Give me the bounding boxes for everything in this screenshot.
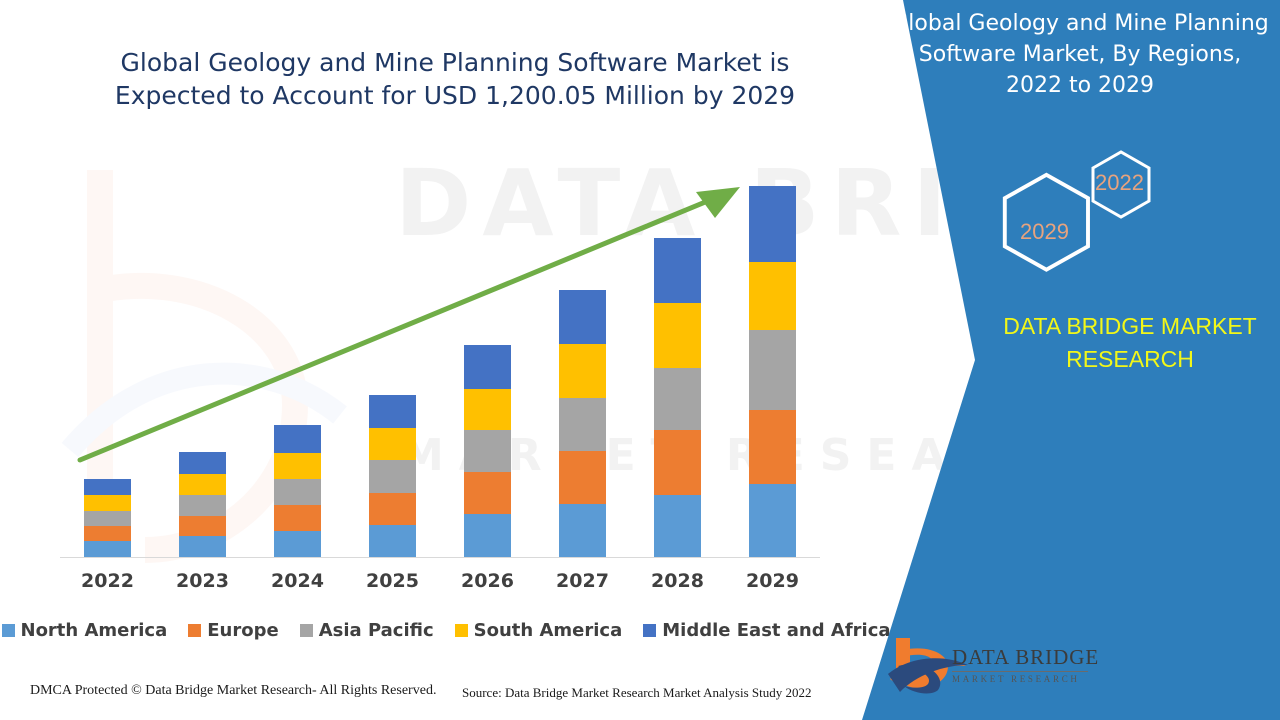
x-axis-tick-2023: 2023 (155, 570, 250, 592)
x-axis-tick-2028: 2028 (630, 570, 725, 592)
source-note: Source: Data Bridge Market Research Mark… (462, 685, 811, 701)
brand-name-line1: DATA BRIDGE MARKET (1003, 313, 1256, 339)
x-axis-tick-2024: 2024 (250, 570, 345, 592)
legend-swatch-icon (188, 624, 201, 637)
legend-swatch-icon (643, 624, 656, 637)
x-axis-tick-2022: 2022 (60, 570, 155, 592)
legend-swatch-icon (2, 624, 15, 637)
legend-item: South America (455, 620, 623, 641)
chart-legend: North AmericaEuropeAsia PacificSouth Ame… (56, 616, 836, 644)
x-axis-tick-2026: 2026 (440, 570, 535, 592)
legend-item: Europe (188, 620, 278, 641)
chart-panel: DATA BRIDGE MARKET RESEARCH Global Geolo… (0, 0, 960, 720)
chart-axis-line (60, 557, 820, 558)
page-title: Global Geology and Mine Planning Softwar… (60, 46, 850, 113)
x-axis-tick-2027: 2027 (535, 570, 630, 592)
logo-wordmark-line1: DATA BRIDGE (952, 645, 1099, 670)
logo-wordmark-rule (952, 671, 1088, 672)
legend-item: North America (2, 620, 168, 641)
growth-arrow-icon (60, 170, 820, 557)
logo-wordmark-line2: MARKET RESEARCH (952, 674, 1099, 684)
legend-swatch-icon (300, 624, 313, 637)
brand-name-line2: RESEARCH (1066, 346, 1194, 372)
legend-item: Asia Pacific (300, 620, 434, 641)
copyright-notice: DMCA Protected © Data Bridge Market Rese… (30, 683, 436, 699)
legend-item: Middle East and Africa (643, 620, 890, 641)
legend-swatch-icon (455, 624, 468, 637)
legend-label: South America (474, 620, 623, 641)
x-axis-labels: 20222023202420252026202720282029 (60, 566, 820, 596)
legend-label: North America (21, 620, 168, 641)
legend-label: Asia Pacific (319, 620, 434, 641)
hexagon-2029-label: 2029 (1020, 219, 1069, 245)
legend-label: Middle East and Africa (662, 620, 890, 641)
year-hexagons (975, 140, 1195, 300)
x-axis-tick-2029: 2029 (725, 570, 820, 592)
logo-wordmark: DATA BRIDGE MARKET RESEARCH (952, 645, 1099, 684)
brand-name: DATA BRIDGE MARKET RESEARCH (930, 310, 1280, 375)
brand-panel-title: Global Geology and Mine Planning Softwar… (888, 8, 1272, 102)
hexagon-2022-label: 2022 (1095, 170, 1144, 196)
x-axis-tick-2025: 2025 (345, 570, 440, 592)
legend-label: Europe (207, 620, 278, 641)
